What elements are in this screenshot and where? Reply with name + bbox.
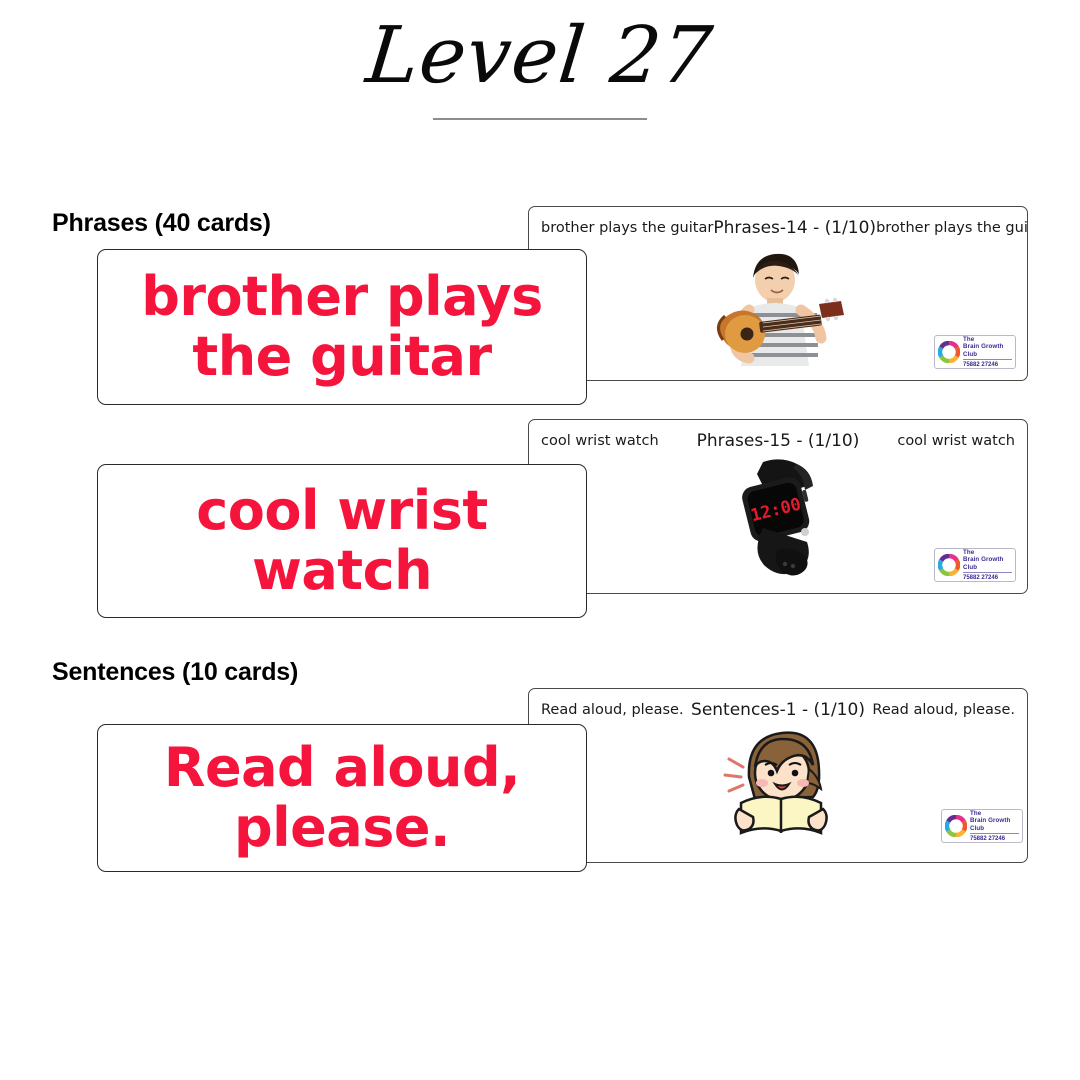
preview-center-label: Phrases-14 - (1/10) — [713, 218, 876, 238]
brand-name-line1: The — [963, 549, 1012, 556]
brain-growth-club-ring-logo — [945, 815, 967, 837]
preview-card-phrases-15[interactable]: cool wrist watch Phrases-15 - (1/10) coo… — [528, 419, 1028, 594]
page-title: Level 27 — [362, 8, 717, 104]
brand-badge: The Brain Growth Club 75882 27246 — [934, 548, 1016, 582]
brand-name-line1: The — [963, 336, 1012, 343]
brain-growth-club-ring-logo — [938, 554, 960, 576]
girl-reading-book-illustration — [719, 725, 845, 847]
flashcard-front-text: cool wrist watch — [98, 481, 586, 601]
brand-name-line2: Brain Growth — [963, 343, 1012, 350]
preview-left-label: Read aloud, please. — [541, 702, 684, 718]
brand-phone: 75882 27246 — [963, 572, 1012, 581]
flashcard-front-read-aloud-please[interactable]: Read aloud, please. — [97, 724, 587, 872]
flashcard-front-brother-plays-the-guitar[interactable]: brother plays the guitar — [97, 249, 587, 405]
preview-center-label: Phrases-15 - (1/10) — [659, 431, 898, 451]
preview-card-phrases-14[interactable]: brother plays the guitar Phrases-14 - (1… — [528, 206, 1028, 381]
brand-phone: 75882 27246 — [963, 359, 1012, 368]
preview-right-label: brother plays the guitar — [876, 220, 1028, 236]
brand-badge: The Brain Growth Club 75882 27246 — [934, 335, 1016, 369]
brain-growth-club-ring-logo — [938, 341, 960, 363]
preview-left-label: brother plays the guitar — [541, 220, 713, 236]
brand-name-line3: Club — [963, 564, 1012, 571]
brand-name-line2: Brain Growth — [970, 817, 1019, 824]
page-header: Level 27 — [0, 8, 1080, 120]
preview-right-label: Read aloud, please. — [872, 702, 1015, 718]
flashcard-front-text: brother plays the guitar — [98, 267, 586, 387]
black-digital-wrist-watch-photo: 12:00 — [719, 454, 845, 580]
section-label-phrases: Phrases (40 cards) — [52, 209, 271, 238]
preview-left-label: cool wrist watch — [541, 433, 659, 449]
brand-badge: The Brain Growth Club 75882 27246 — [941, 809, 1023, 843]
brand-phone: 75882 27246 — [970, 833, 1019, 842]
preview-right-label: cool wrist watch — [897, 433, 1015, 449]
flashcard-front-cool-wrist-watch[interactable]: cool wrist watch — [97, 464, 587, 618]
preview-center-label: Sentences-1 - (1/10) — [684, 700, 873, 720]
preview-header: brother plays the guitar Phrases-14 - (1… — [529, 207, 1027, 249]
title-divider — [433, 118, 647, 120]
brand-name-line1: The — [970, 810, 1019, 817]
flashcard-front-text: Read aloud, please. — [98, 738, 586, 858]
boy-playing-guitar-photo — [689, 244, 869, 366]
preview-card-sentences-1[interactable]: Read aloud, please. Sentences-1 - (1/10)… — [528, 688, 1028, 863]
brand-name-line3: Club — [963, 351, 1012, 358]
brand-name-line3: Club — [970, 825, 1019, 832]
brand-name-line2: Brain Growth — [963, 556, 1012, 563]
section-label-sentences: Sentences (10 cards) — [52, 658, 298, 687]
